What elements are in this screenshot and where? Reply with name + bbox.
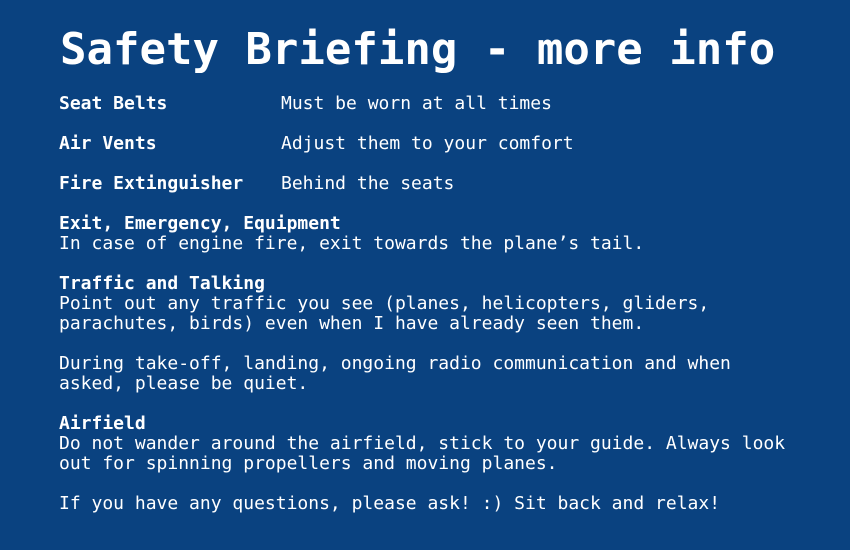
pair-desc-fire-extinguisher: Behind the seats xyxy=(281,174,454,194)
section-heading-traffic-and-talking: Traffic and Talking xyxy=(59,274,810,294)
quiet-note-paragraph: During take-off, landing, ongoing radio … xyxy=(40,354,810,394)
section-body-airfield: Do not wander around the airfield, stick… xyxy=(59,434,810,474)
info-pair-list: Seat Belts Must be worn at all times Air… xyxy=(40,94,810,194)
list-item: Fire Extinguisher Behind the seats xyxy=(59,174,810,194)
closing-paragraph: If you have any questions, please ask! :… xyxy=(40,494,810,514)
section-traffic-and-talking: Traffic and Talking Point out any traffi… xyxy=(40,274,810,334)
section-exit-emergency-equipment: Exit, Emergency, Equipment In case of en… xyxy=(40,214,810,254)
safety-briefing-slide: Safety Briefing - more info Seat Belts M… xyxy=(0,0,850,550)
section-heading-airfield: Airfield xyxy=(59,414,810,434)
list-item: Air Vents Adjust them to your comfort xyxy=(59,134,810,154)
section-airfield: Airfield Do not wander around the airfie… xyxy=(40,414,810,474)
pair-term-fire-extinguisher: Fire Extinguisher xyxy=(59,174,281,194)
pair-term-air-vents: Air Vents xyxy=(59,134,281,154)
list-item: Seat Belts Must be worn at all times xyxy=(59,94,810,114)
page-title: Safety Briefing - more info xyxy=(40,0,810,72)
section-body-exit-emergency-equipment: In case of engine fire, exit towards the… xyxy=(59,234,810,254)
pair-desc-air-vents: Adjust them to your comfort xyxy=(281,134,574,154)
pair-term-seat-belts: Seat Belts xyxy=(59,94,281,114)
section-body-traffic-and-talking: Point out any traffic you see (planes, h… xyxy=(59,294,810,334)
section-heading-exit-emergency-equipment: Exit, Emergency, Equipment xyxy=(59,214,810,234)
pair-desc-seat-belts: Must be worn at all times xyxy=(281,94,552,114)
